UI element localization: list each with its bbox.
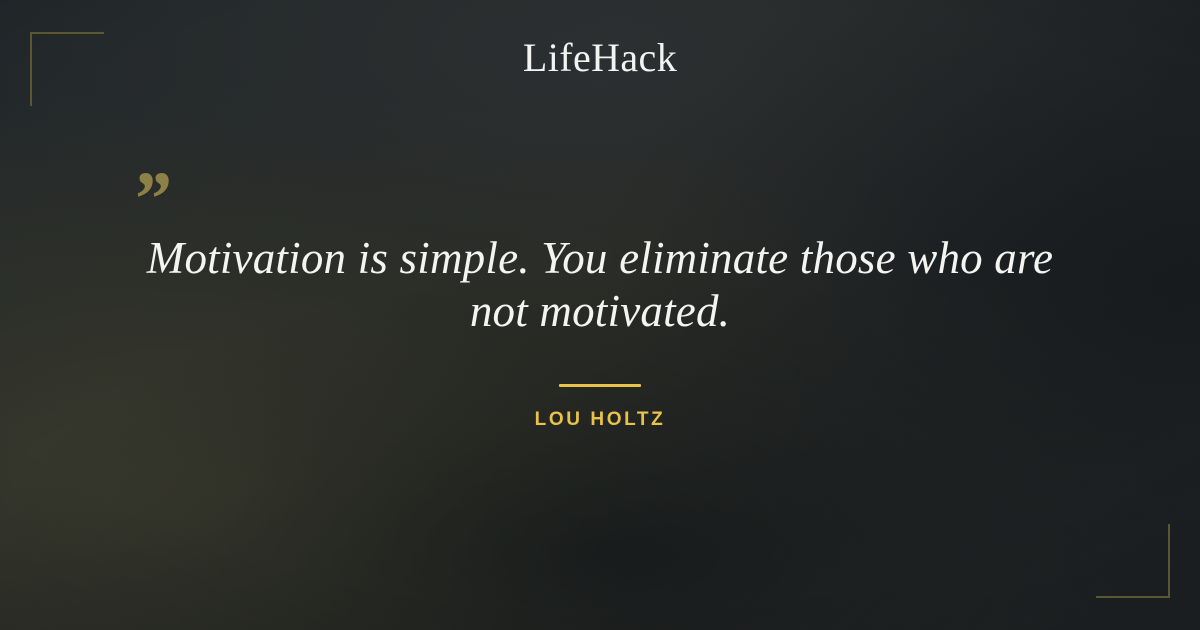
- brand-logo: LifeHack: [0, 38, 1200, 78]
- quote-block: ” Motivation is simple. You eliminate th…: [0, 160, 1200, 431]
- quote-text: Motivation is simple. You eliminate thos…: [140, 232, 1060, 338]
- divider-rule: [559, 384, 641, 387]
- quotation-mark-icon: ”: [131, 160, 170, 238]
- quote-card-canvas: LifeHack ” Motivation is simple. You eli…: [0, 0, 1200, 630]
- quote-author: LOU HOLTZ: [0, 409, 1200, 431]
